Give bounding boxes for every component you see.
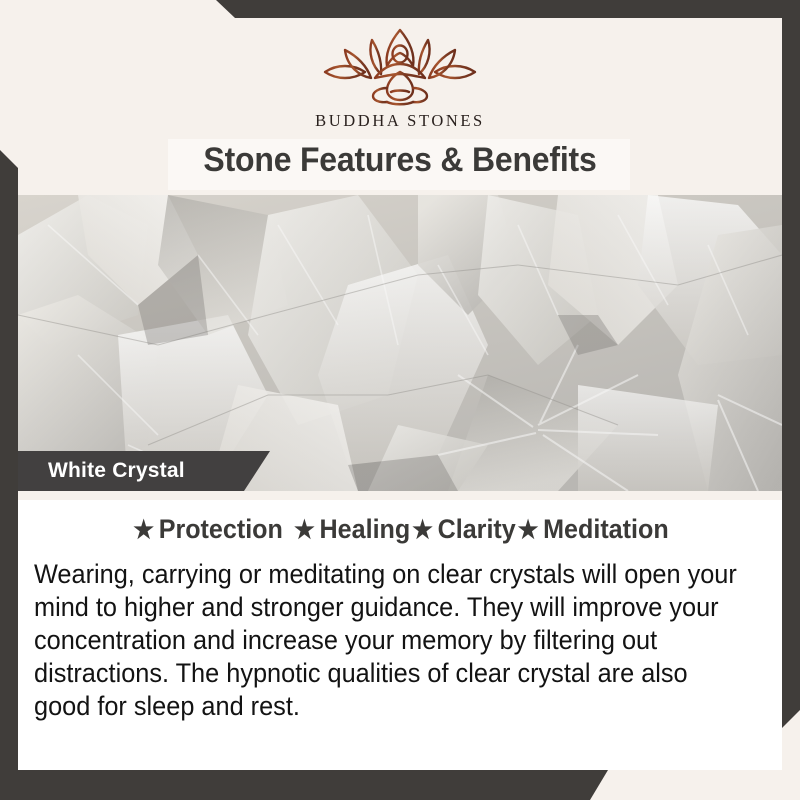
brand-name: BUDDHA STONES (315, 111, 485, 131)
star-icon: ★ (518, 516, 539, 544)
white-crystal-cluster-photo (18, 195, 782, 491)
content-panel: ★Protection★Healing★Clarity★Meditation W… (18, 500, 782, 770)
benefit-label: Clarity (438, 514, 516, 544)
benefit-label: Healing (320, 514, 411, 544)
brand-logo: BUDDHA STONES (0, 26, 800, 131)
benefit-item-protection: ★Protection (131, 514, 283, 544)
star-icon: ★ (294, 516, 315, 544)
stone-name-badge: White Crystal (18, 451, 270, 491)
benefit-label: Meditation (543, 514, 669, 544)
benefit-label: Protection (159, 514, 283, 544)
description-text: Wearing, carrying or meditating on clear… (34, 558, 741, 723)
stone-name-label: White Crystal (48, 459, 185, 483)
star-icon: ★ (412, 516, 433, 544)
infographic-page: BUDDHA STONES Stone Features & Benefits (0, 0, 800, 800)
lotus-meditation-icon (315, 26, 485, 106)
page-title: Stone Features & Benefits (24, 141, 776, 180)
benefit-item-clarity: ★Clarity (410, 514, 516, 544)
benefits-row: ★Protection★Healing★Clarity★Meditation (45, 514, 756, 545)
frame-bar-bottom (0, 770, 800, 800)
header: BUDDHA STONES Stone Features & Benefits (0, 0, 800, 195)
star-icon: ★ (133, 516, 154, 544)
benefit-item-healing: ★Healing (292, 514, 410, 544)
benefit-item-meditation: ★Meditation (516, 514, 669, 544)
frame-bar-right (782, 0, 800, 800)
